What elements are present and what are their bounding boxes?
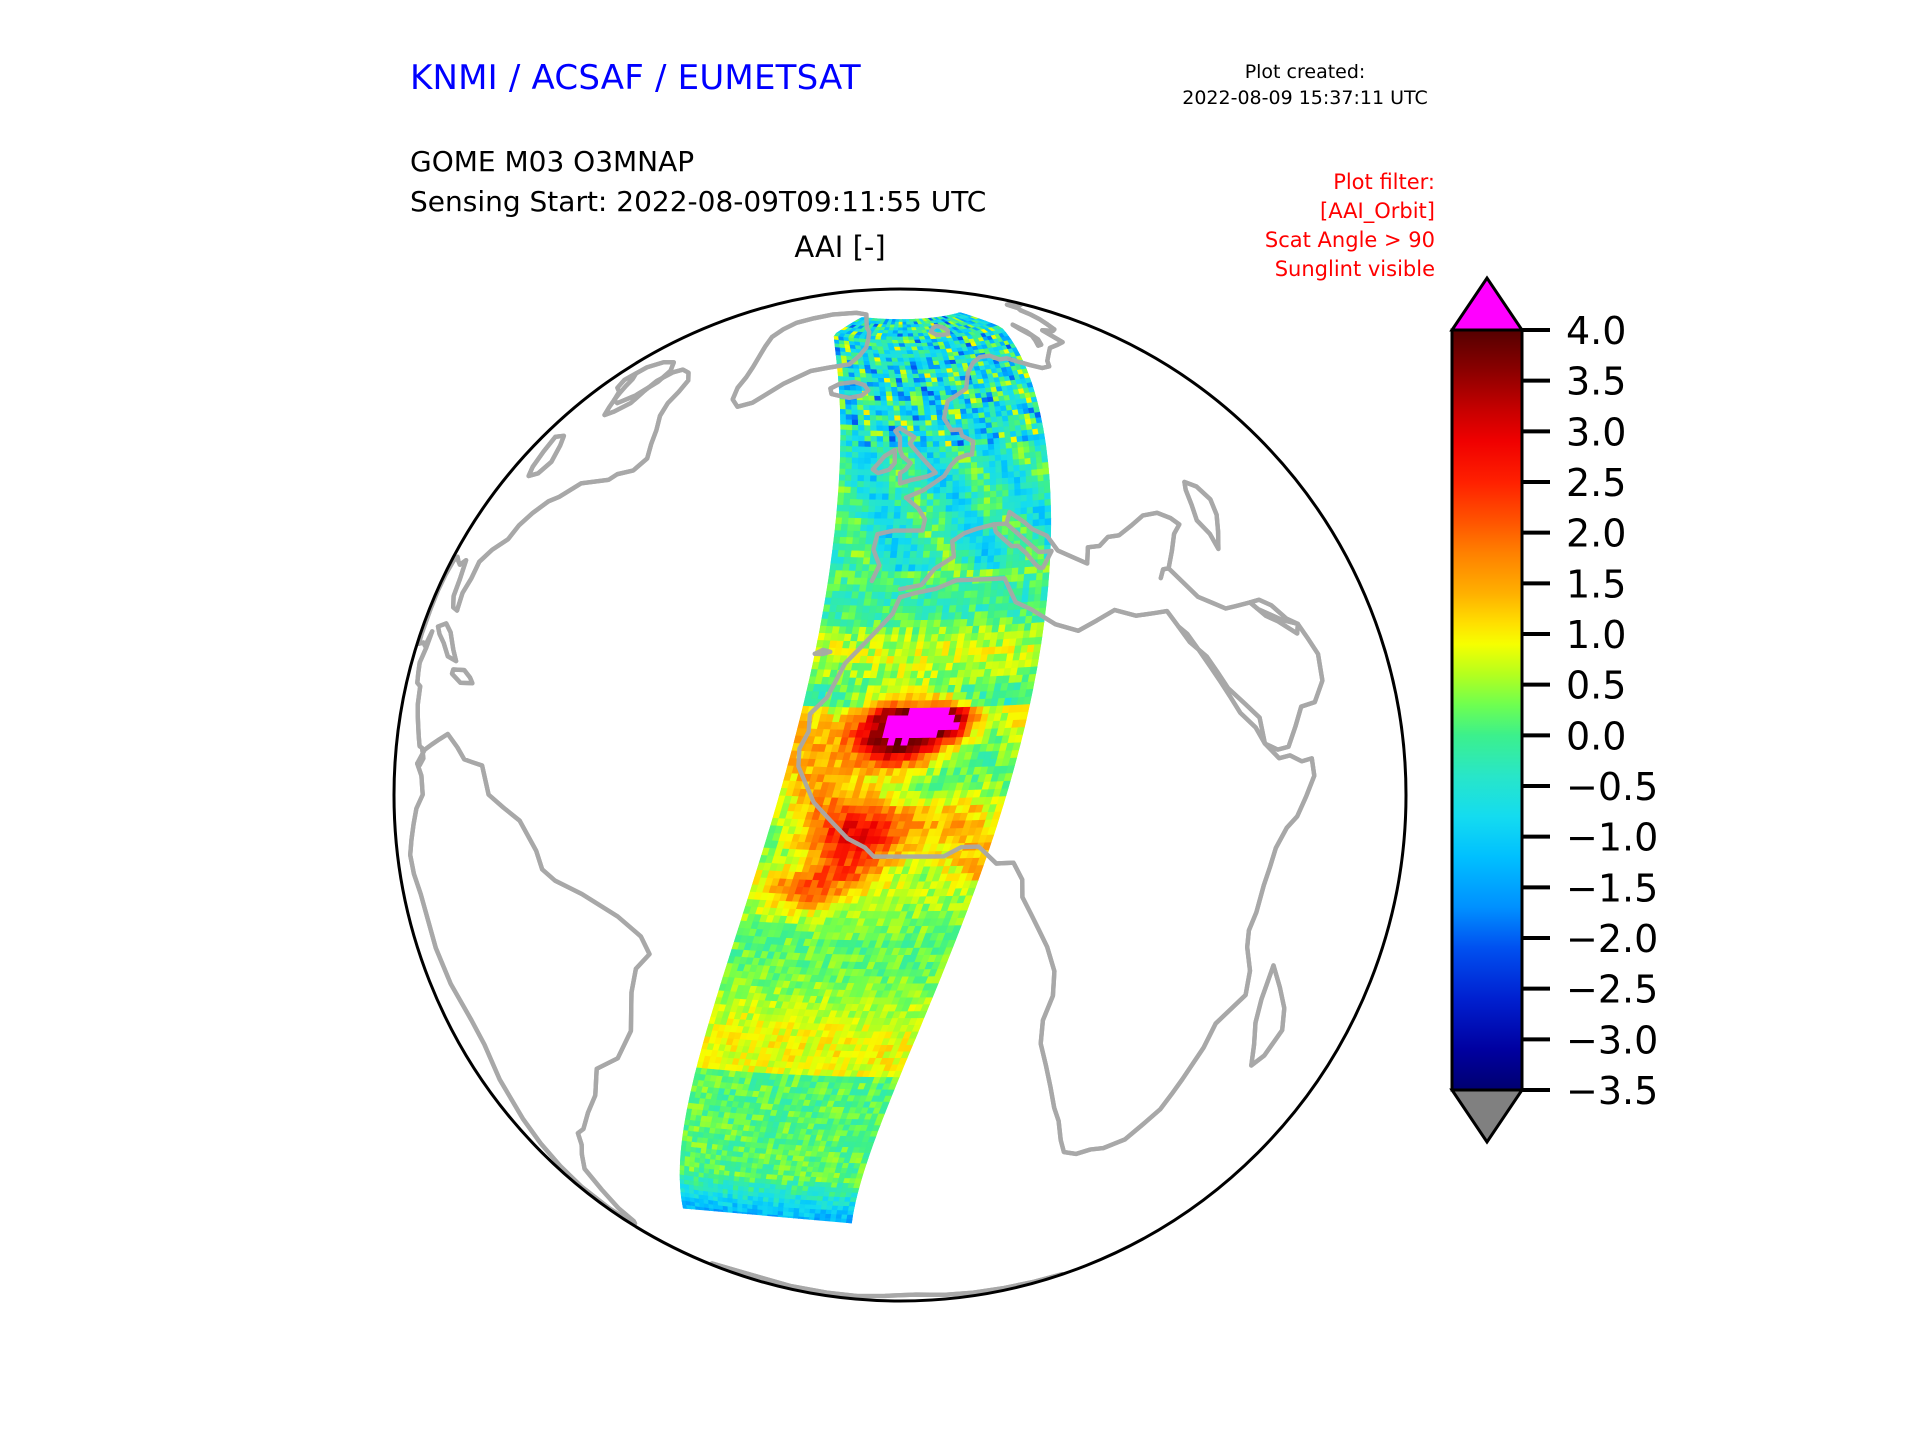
swath-cell <box>969 550 976 557</box>
swath-cell <box>978 474 984 480</box>
swath-cell <box>990 485 996 492</box>
swath-cell <box>845 481 852 487</box>
swath-cell <box>996 461 1002 467</box>
swath-cell <box>895 494 902 500</box>
swath-cell <box>895 416 902 421</box>
swath-cell <box>865 431 871 436</box>
swath-cell <box>1019 453 1025 459</box>
swath-cell <box>934 571 941 578</box>
swath-cell <box>864 405 870 410</box>
swath-cell <box>971 457 977 463</box>
swath-cell <box>940 493 947 499</box>
swath-cell <box>891 387 898 392</box>
swath-cell <box>862 512 869 519</box>
swath-cell <box>893 519 900 525</box>
swath-cell <box>985 583 992 590</box>
swath-cell <box>917 396 924 401</box>
swath-cell <box>984 468 990 474</box>
swath-cell <box>850 1198 857 1203</box>
swath-cell <box>1039 506 1045 513</box>
swath-cell <box>902 565 909 572</box>
swath-cell <box>927 494 934 500</box>
swath-cell <box>849 1202 855 1207</box>
swath-cell <box>864 551 871 558</box>
swath-cell <box>902 488 909 494</box>
swath-cell <box>994 555 1001 562</box>
swath-cell <box>947 487 953 493</box>
swath-cell <box>843 372 849 377</box>
swath-cell <box>968 419 975 425</box>
swath-cell <box>887 401 894 406</box>
swath-cell <box>933 442 940 448</box>
swath-cell <box>864 420 870 425</box>
swath-cell <box>1002 596 1009 603</box>
swath-cell <box>915 442 922 448</box>
swath-cell <box>1006 449 1012 455</box>
swath-cell <box>774 1198 780 1203</box>
swath-cell <box>940 447 946 453</box>
swath-cell <box>835 524 842 531</box>
swath-cell <box>990 516 997 523</box>
swath-cell <box>995 542 1002 549</box>
swath-cell <box>896 459 902 465</box>
swath-cell <box>853 531 860 538</box>
swath-cell <box>885 383 892 388</box>
swath-cell <box>924 406 931 411</box>
swath-cell <box>909 558 916 565</box>
swath-cell <box>977 517 984 524</box>
swath-cell <box>869 401 875 406</box>
plot-filter-line-2: Scat Angle > 90 <box>1185 226 1435 255</box>
swath-cell <box>956 550 963 557</box>
swath-cell <box>878 378 885 382</box>
swath-cell <box>946 441 952 447</box>
swath-cell <box>856 386 862 391</box>
swath-cell <box>903 558 910 565</box>
swath-cell <box>930 405 937 410</box>
swath-cell <box>946 499 953 505</box>
swath-cell <box>984 517 991 524</box>
swath-cell <box>894 406 901 411</box>
swath-cell <box>764 1193 770 1198</box>
swath-cell <box>1041 451 1047 458</box>
swath-cell <box>1014 471 1020 477</box>
swath-cell <box>709 1169 715 1174</box>
swath-cell <box>892 392 899 397</box>
swath-cell <box>965 584 972 591</box>
swath-cell <box>993 433 1000 439</box>
swath-cell <box>1044 481 1050 488</box>
swath-cell <box>1019 459 1025 465</box>
swath-cell <box>768 1198 774 1203</box>
swath-cell <box>984 504 990 511</box>
swath-cell <box>928 391 935 396</box>
swath-cell <box>1037 623 1044 631</box>
swath-cell <box>878 545 885 552</box>
swath-cell <box>953 400 960 405</box>
swath-cell <box>900 411 907 416</box>
swath-cell <box>877 437 883 443</box>
swath-cell <box>1007 454 1013 460</box>
swath-cell <box>897 552 904 559</box>
swath-cell <box>984 510 991 517</box>
swath-cell <box>940 458 946 464</box>
swath-cell <box>937 544 944 551</box>
swath-cell <box>1014 465 1020 471</box>
swath-cell <box>840 400 846 405</box>
swath-cell <box>903 334 908 337</box>
swath-cell <box>870 482 877 488</box>
swath-cell <box>999 569 1006 576</box>
swath-cell <box>1024 453 1030 459</box>
swath-cell <box>859 447 865 453</box>
swath-cell <box>1018 447 1024 453</box>
swath-cell <box>845 390 851 395</box>
swath-cell <box>902 442 908 448</box>
swath-cell <box>906 519 913 525</box>
swath-cell <box>989 461 995 467</box>
swath-cell <box>846 425 852 431</box>
swath-cell <box>1000 443 1006 449</box>
swath-cell <box>976 445 982 451</box>
swath-cell <box>906 411 913 416</box>
swath-cell <box>858 405 864 410</box>
swath-cell <box>915 459 921 465</box>
swath-cell <box>1034 645 1042 653</box>
swath-cell <box>911 538 918 545</box>
swath-cell <box>852 420 858 425</box>
swath-cell <box>939 436 946 442</box>
swath-cell <box>1045 525 1051 532</box>
swath-cell <box>845 544 852 551</box>
swath-cell <box>972 408 979 413</box>
swath-cell <box>1012 442 1018 448</box>
swath-cell <box>1045 519 1051 526</box>
swath-cell <box>1044 487 1050 494</box>
swath-cell <box>936 405 943 410</box>
swath-cell <box>852 464 858 470</box>
swath-cell <box>881 513 888 519</box>
swath-cell <box>854 525 861 532</box>
swath-cell <box>891 383 898 388</box>
swath-cell <box>790 1199 796 1204</box>
swath-cell <box>962 550 969 557</box>
swath-cell <box>938 531 945 538</box>
swath-cell <box>984 473 990 479</box>
swath-cell <box>998 427 1005 433</box>
swath-cell <box>1033 500 1039 507</box>
swath-cell <box>833 537 840 544</box>
swath-cell <box>916 558 923 565</box>
swath-cell <box>860 525 867 532</box>
swath-cell <box>871 431 877 437</box>
swath-cell <box>838 372 844 377</box>
swath-cell <box>1036 580 1043 588</box>
swath-cell <box>905 538 912 545</box>
institutes-title: KNMI / ACSAF / EUMETSAT <box>410 58 861 98</box>
swath-cell <box>1003 490 1009 497</box>
swath-cell <box>851 400 857 405</box>
swath-cell <box>866 538 873 545</box>
swath-cell <box>840 463 847 469</box>
swath-cell <box>774 1194 780 1199</box>
swath-cell <box>864 482 871 488</box>
swath-cell <box>911 401 918 406</box>
swath-cell <box>927 500 934 506</box>
swath-cell <box>921 494 928 500</box>
swath-cell <box>724 1171 730 1176</box>
swath-cell <box>994 549 1001 556</box>
swath-cell <box>989 456 995 462</box>
swath-cell <box>930 545 937 552</box>
swath-cell <box>905 396 912 401</box>
swath-cell <box>1032 482 1038 489</box>
swath-cell <box>1042 457 1048 464</box>
swath-cell <box>862 565 870 572</box>
swath-cell <box>840 537 847 544</box>
swath-cell <box>840 458 846 464</box>
swath-cell <box>866 532 873 539</box>
swath-cell <box>877 476 884 482</box>
swath-cell <box>899 325 903 328</box>
swath-cell <box>839 544 846 551</box>
swath-cell <box>967 570 974 577</box>
swath-cell <box>869 396 875 401</box>
swath-cell <box>908 572 916 579</box>
swath-cell <box>899 320 903 323</box>
swath-cell <box>1001 548 1008 555</box>
swath-cell <box>927 442 934 448</box>
swath-cell <box>784 1203 790 1208</box>
swath-cell <box>710 1160 716 1165</box>
swath-cell <box>1038 475 1044 482</box>
swath-cell <box>773 1203 779 1208</box>
swath-cell <box>753 1197 758 1202</box>
swath-cell <box>902 437 908 443</box>
swath-cell <box>946 512 953 519</box>
swath-cell <box>1020 465 1026 472</box>
swath-cell <box>982 543 989 550</box>
swath-cell <box>925 532 932 539</box>
swath-cell <box>868 512 875 519</box>
swath-cell <box>918 538 925 545</box>
swath-cell <box>1043 573 1050 580</box>
swath-cell <box>840 425 846 431</box>
swath-cell <box>848 525 855 532</box>
swath-cell <box>1036 418 1042 424</box>
swath-cell <box>865 426 871 431</box>
swath-cell <box>995 455 1001 461</box>
swath-cell <box>892 334 898 337</box>
swath-cell <box>1037 423 1043 429</box>
swath-cell <box>954 571 961 578</box>
swath-cell <box>953 469 959 475</box>
swath-cell <box>983 462 989 468</box>
swath-cell <box>971 462 977 468</box>
swath-cell <box>946 493 952 499</box>
swath-cell <box>972 474 978 480</box>
swath-cell <box>984 492 990 499</box>
swath-cell <box>908 565 915 572</box>
swath-cell <box>883 421 889 426</box>
swath-cell <box>1041 587 1048 595</box>
swath-cell <box>958 518 965 525</box>
swath-cell <box>995 449 1001 455</box>
swath-cell <box>978 492 984 499</box>
swath-cell <box>910 551 917 558</box>
swath-cell <box>971 511 978 518</box>
swath-cell <box>883 437 889 442</box>
swath-cell <box>865 436 871 442</box>
swath-cell <box>849 373 855 378</box>
swath-cell <box>889 565 896 572</box>
swath-cell <box>1030 452 1036 458</box>
swath-cell <box>921 436 927 442</box>
swath-cell <box>925 416 932 421</box>
swath-cell <box>1001 460 1007 466</box>
swath-cell <box>749 1187 755 1192</box>
swath-cell <box>960 404 967 409</box>
swath-cell <box>1027 501 1033 508</box>
swath-cell <box>949 410 956 415</box>
swath-cell <box>907 416 914 421</box>
swath-cell <box>951 524 958 531</box>
swath-cell <box>952 585 959 592</box>
swath-cell <box>933 500 940 506</box>
swath-cell <box>865 545 872 552</box>
swath-cell <box>992 422 998 428</box>
swath-cell <box>1003 503 1009 510</box>
swath-cell <box>846 452 852 458</box>
swath-cell <box>870 406 876 411</box>
swath-cell <box>859 441 865 447</box>
swath-cell <box>1002 466 1008 472</box>
swath-cell <box>982 439 988 445</box>
swath-cell <box>1015 489 1021 496</box>
swath-cell <box>894 506 901 512</box>
swath-cell <box>926 426 933 431</box>
swath-cell <box>1018 574 1025 581</box>
swath-cell <box>997 497 1003 504</box>
swath-cell <box>980 563 987 570</box>
swath-cell <box>859 431 865 437</box>
swath-cell <box>852 469 859 475</box>
swath-cell <box>865 442 871 448</box>
swath-cell <box>893 579 901 586</box>
swath-cell <box>958 524 965 531</box>
swath-cell <box>859 538 866 545</box>
swath-cell <box>1005 432 1011 438</box>
swath-cell <box>846 405 852 410</box>
swath-cell <box>868 519 875 526</box>
swath-cell <box>1045 493 1051 500</box>
swath-cell <box>882 416 888 421</box>
swath-cell <box>851 487 858 493</box>
swath-cell <box>1036 573 1043 580</box>
swath-cell <box>1027 507 1033 514</box>
swath-cell <box>958 511 965 518</box>
swath-cell <box>1020 477 1026 484</box>
swath-cell <box>1032 470 1038 477</box>
swath-cell <box>935 396 942 401</box>
swath-cell <box>1021 483 1027 490</box>
swath-cell <box>993 562 1000 569</box>
swath-cell <box>863 494 870 500</box>
swath-cell <box>969 429 976 435</box>
swath-cell <box>919 416 926 421</box>
swath-cell <box>1009 490 1015 497</box>
swath-cell <box>842 518 849 525</box>
swath-cell <box>899 401 906 406</box>
swath-cell <box>1033 494 1039 501</box>
swath-cell <box>1026 470 1032 477</box>
swath-cell <box>1003 484 1009 491</box>
swath-cell <box>989 536 996 543</box>
swath-cell <box>862 506 869 512</box>
swath-cell <box>977 456 983 462</box>
swath-cell <box>932 519 939 526</box>
swath-cell <box>933 447 939 453</box>
swath-cell <box>903 383 910 388</box>
swath-cell <box>858 476 865 482</box>
swath-cell <box>1024 567 1031 574</box>
swath-cell <box>931 592 939 599</box>
swath-cell <box>849 512 856 519</box>
swath-cell <box>996 479 1002 486</box>
swath-cell <box>858 481 865 487</box>
swath-cell <box>873 383 880 388</box>
swath-cell <box>882 500 889 506</box>
swath-cell <box>993 569 1000 576</box>
swath-cell <box>929 558 936 565</box>
swath-cell <box>938 525 945 532</box>
swath-cell <box>1039 513 1045 520</box>
swath-cell <box>943 551 950 558</box>
swath-cell <box>882 411 889 416</box>
swath-cell <box>948 564 955 571</box>
swath-cell <box>996 473 1002 479</box>
swath-cell <box>913 421 920 426</box>
swath-cell <box>881 396 888 401</box>
swath-cell <box>1012 568 1019 575</box>
swath-cell <box>1029 588 1036 596</box>
swath-cell <box>859 436 865 442</box>
swath-cell <box>965 505 972 512</box>
swath-cell <box>882 406 889 411</box>
swath-cell <box>840 404 846 409</box>
swath-cell <box>1045 512 1051 519</box>
swath-cell <box>1027 482 1033 489</box>
product-metadata: GOME M03 O3MNAP Sensing Start: 2022-08-0… <box>410 142 986 222</box>
swath-cell <box>894 513 901 519</box>
swath-cell <box>882 565 889 572</box>
swath-cell <box>795 1200 801 1205</box>
swath-cell <box>1027 514 1033 521</box>
swath-cell <box>750 1178 756 1183</box>
swath-cell <box>952 512 959 519</box>
swath-cell <box>1018 568 1025 575</box>
swath-cell <box>867 378 873 383</box>
swath-cell <box>858 425 864 431</box>
swath-cell <box>947 475 953 481</box>
swath-cell <box>1043 462 1049 469</box>
swath-cell <box>779 1199 785 1204</box>
swath-cell <box>884 545 891 552</box>
swath-cell <box>888 572 896 579</box>
swath-cell <box>885 538 892 545</box>
swath-cell <box>1014 477 1020 484</box>
swath-cell <box>965 518 972 525</box>
